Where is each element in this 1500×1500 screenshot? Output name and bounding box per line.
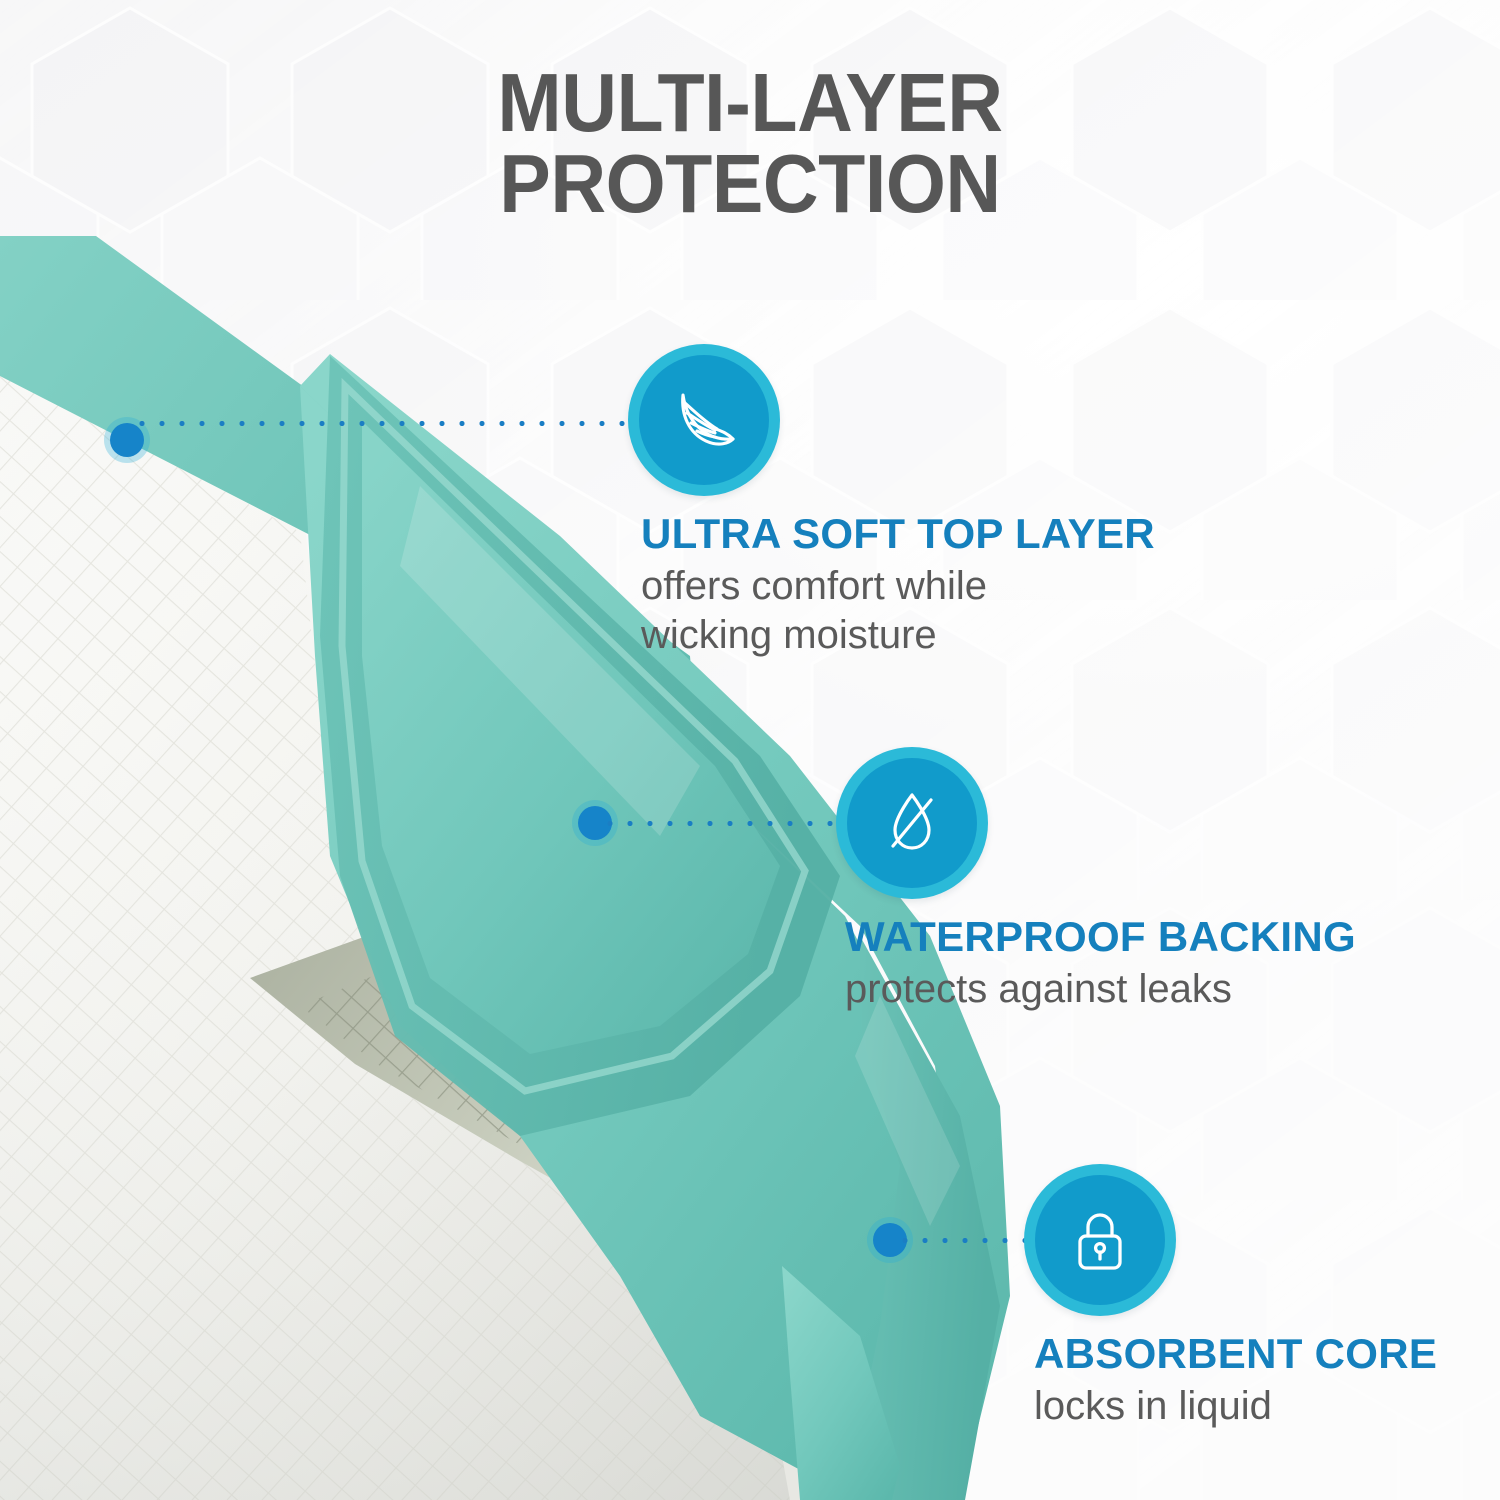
connector-line-waterproof-backing — [600, 819, 840, 828]
feature-description-absorbent-core: locks in liquid — [1034, 1382, 1437, 1431]
feature-heading-waterproof-backing: WATERPROOF BACKING — [845, 915, 1356, 959]
feature-icon-badge-ultra-soft-top-layer — [628, 344, 780, 496]
feature-icon-badge-waterproof-backing — [836, 747, 988, 899]
feature-text-ultra-soft-top-layer: ULTRA SOFT TOP LAYER offers comfort whil… — [641, 512, 1155, 660]
feature-heading-absorbent-core: ABSORBENT CORE — [1034, 1332, 1437, 1376]
feature-heading-ultra-soft-top-layer: ULTRA SOFT TOP LAYER — [641, 512, 1155, 556]
feature-text-waterproof-backing: WATERPROOF BACKING protects against leak… — [845, 915, 1356, 1014]
connector-line-absorbent-core — [895, 1236, 1027, 1245]
feather-icon — [661, 377, 747, 463]
feature-description-waterproof-backing: protects against leaks — [845, 965, 1356, 1014]
connector-line-ultra-soft-top-layer — [132, 419, 632, 428]
feature-icon-badge-absorbent-core — [1024, 1164, 1176, 1316]
feature-description-ultra-soft-top-layer: offers comfort while wicking moisture — [641, 562, 1155, 660]
feature-text-absorbent-core: ABSORBENT CORE locks in liquid — [1034, 1332, 1437, 1431]
infographic-page: MULTI-LAYER PROTECTION ULTRA SOFT TOP LA… — [0, 0, 1500, 1500]
padlock-icon — [1057, 1197, 1143, 1283]
no-water-drop-icon — [869, 780, 955, 866]
page-title: MULTI-LAYER PROTECTION — [53, 62, 1448, 225]
anchor-dot-ultra-soft-top-layer — [110, 423, 144, 457]
